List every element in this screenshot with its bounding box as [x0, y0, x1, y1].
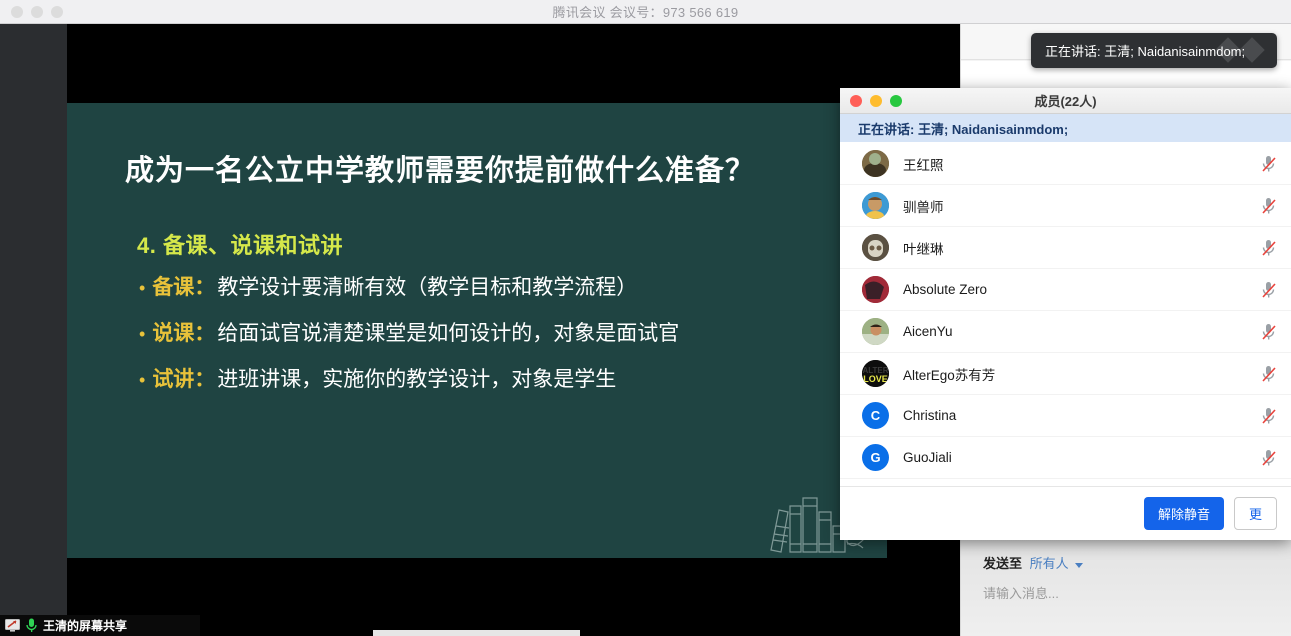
participant-name: 驯兽师 — [903, 196, 1261, 216]
participants-footer: 解除静音 更 — [840, 486, 1291, 540]
avatar — [862, 234, 889, 261]
chat-send-to-target[interactable]: 所有人 — [1030, 556, 1069, 571]
participant-name: 王红照 — [903, 154, 1261, 174]
avatar — [862, 318, 889, 345]
mic-muted-icon[interactable] — [1261, 281, 1277, 299]
bullet-dot-icon: • — [139, 325, 145, 343]
chevron-down-icon[interactable] — [1075, 563, 1083, 568]
screen-share-status-bar: 王清的屏幕共享 — [0, 615, 200, 636]
participant-row[interactable]: G GuoJiali — [840, 437, 1291, 479]
participants-window: 成员(22人) 正在讲话: 王清; Naidanisainmdom; 王红照 — [840, 88, 1291, 540]
participant-row[interactable]: ALTERLOVE AlterEgo苏有芳 — [840, 353, 1291, 395]
avatar: ALTERLOVE — [862, 360, 889, 387]
bullet-key: 说课： — [152, 317, 215, 347]
avatar — [862, 276, 889, 303]
slide-bullet-list: • 备课： 教学设计要清晰有效（教学目标和教学流程） • 说课： 给面试官说清楚… — [139, 271, 879, 409]
participant-row[interactable]: C Christina — [840, 395, 1291, 437]
chat-send-to-label: 发送至 — [983, 556, 1022, 571]
participant-name: AlterEgo苏有芳 — [903, 364, 1261, 384]
avatar: G — [862, 444, 889, 471]
bullet-dot-icon: • — [139, 279, 145, 297]
participant-row[interactable]: 驯兽师 — [840, 185, 1291, 227]
participant-row[interactable]: 叶继琳 — [840, 227, 1291, 269]
bullet-dot-icon: • — [139, 371, 145, 389]
presentation-slide: 成为一名公立中学教师需要你提前做什么准备？ 4. 备课、说课和试讲 • 备课： … — [67, 103, 887, 558]
participants-titlebar: 成员(22人) — [840, 88, 1291, 114]
chat-compose-area: 发送至 所有人 请输入消息... — [961, 538, 1291, 636]
mic-muted-icon[interactable] — [1261, 197, 1277, 215]
screen: 腾讯会议 会议号：973 566 619 成为一名公立中学教师需要你提前做什么准… — [0, 0, 1291, 636]
participant-row[interactable]: 王红照 — [840, 143, 1291, 185]
participant-name: GuoJiali — [903, 450, 1261, 465]
avatar-initial: G — [870, 450, 880, 465]
participants-list[interactable]: 王红照 驯兽师 — [840, 143, 1291, 486]
mic-muted-icon[interactable] — [1261, 323, 1277, 341]
svg-text:LOVE: LOVE — [863, 374, 888, 384]
mic-muted-icon[interactable] — [1261, 365, 1277, 383]
slide-bullet: • 说课： 给面试官说清楚课堂是如何设计的，对象是面试官 — [139, 317, 879, 347]
participant-name: 叶继琳 — [903, 238, 1261, 258]
chat-message-input[interactable]: 请输入消息... — [983, 583, 1278, 602]
microphone-icon — [26, 618, 37, 633]
slide-bullet: • 试讲： 进班讲课，实施你的教学设计，对象是学生 — [139, 363, 879, 393]
mic-muted-icon[interactable] — [1261, 407, 1277, 425]
avatar: C — [862, 402, 889, 429]
participant-row[interactable]: AicenYu — [840, 311, 1291, 353]
left-rail — [0, 24, 67, 615]
mic-muted-icon[interactable] — [1261, 449, 1277, 467]
screen-share-icon — [5, 619, 20, 632]
speaking-status-bar: 正在讲话: 王清; Naidanisainmdom; — [840, 114, 1291, 142]
bullet-key: 试讲： — [152, 363, 215, 393]
bullet-key: 备课： — [152, 271, 215, 301]
avatar — [862, 192, 889, 219]
mic-muted-icon[interactable] — [1261, 239, 1277, 257]
avatar-initial: C — [871, 408, 880, 423]
bottom-toolbar-edge[interactable] — [373, 630, 580, 636]
mic-muted-icon[interactable] — [1261, 155, 1277, 173]
window-titlebar: 腾讯会议 会议号：973 566 619 — [0, 0, 1291, 24]
speaking-tooltip: 正在讲话: 王清; Naidanisainmdom; — [1031, 33, 1277, 68]
meeting-title: 腾讯会议 会议号：973 566 619 — [0, 2, 1291, 21]
share-status-label: 王清的屏幕共享 — [43, 617, 127, 634]
slide-section-heading: 4. 备课、说课和试讲 — [137, 228, 343, 260]
diamond-watermark-icon — [1213, 35, 1277, 67]
bullet-text: 给面试官说清楚课堂是如何设计的，对象是面试官 — [217, 317, 679, 347]
participants-title: 成员(22人) — [840, 91, 1291, 110]
unmute-button[interactable]: 解除静音 — [1144, 497, 1224, 530]
participant-name: Christina — [903, 408, 1261, 423]
participant-name: Absolute Zero — [903, 282, 1261, 297]
slide-title: 成为一名公立中学教师需要你提前做什么准备？ — [125, 147, 845, 189]
participant-row[interactable]: Absolute Zero — [840, 269, 1291, 311]
avatar — [862, 150, 889, 177]
slide-bullet: • 备课： 教学设计要清晰有效（教学目标和教学流程） — [139, 271, 879, 301]
chat-send-to[interactable]: 发送至 所有人 — [983, 553, 1083, 572]
bullet-text: 进班讲课，实施你的教学设计，对象是学生 — [217, 363, 616, 393]
more-button[interactable]: 更 — [1234, 497, 1277, 530]
bullet-text: 教学设计要清晰有效（教学目标和教学流程） — [217, 271, 637, 301]
participant-name: AicenYu — [903, 324, 1261, 339]
